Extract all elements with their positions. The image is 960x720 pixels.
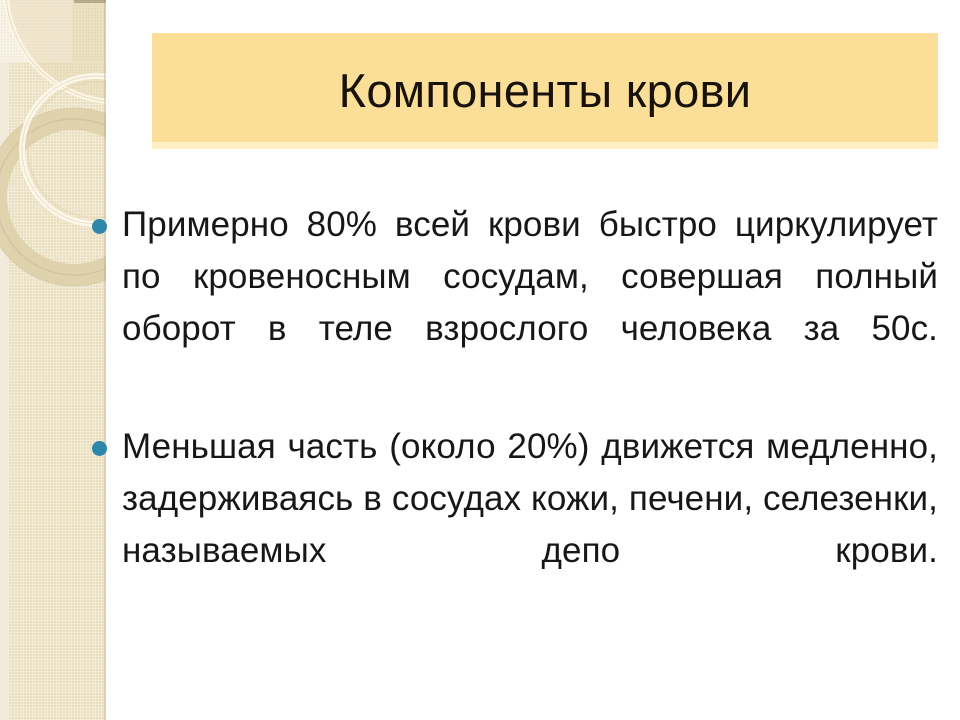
sidebar-ring-decoration-icon: [0, 0, 106, 720]
bullet-item: Примерно 80% всей крови быстро циркулиру…: [92, 199, 938, 407]
slide-decorative-sidebar: [0, 0, 106, 720]
slide-body: Примерно 80% всей крови быстро циркулиру…: [92, 199, 938, 643]
bullet-dot-icon: [92, 219, 107, 234]
bullet-dot-icon: [92, 441, 107, 456]
bullet-item: Меньшая часть (около 20%) движется медле…: [92, 421, 938, 629]
bullet-text: Примерно 80% всей крови быстро циркулиру…: [122, 199, 938, 407]
bullet-text: Меньшая часть (около 20%) движется медле…: [122, 421, 938, 629]
presentation-slide: Компоненты крови Примерно 80% всей крови…: [0, 0, 960, 720]
slide-title: Компоненты крови: [152, 33, 938, 148]
